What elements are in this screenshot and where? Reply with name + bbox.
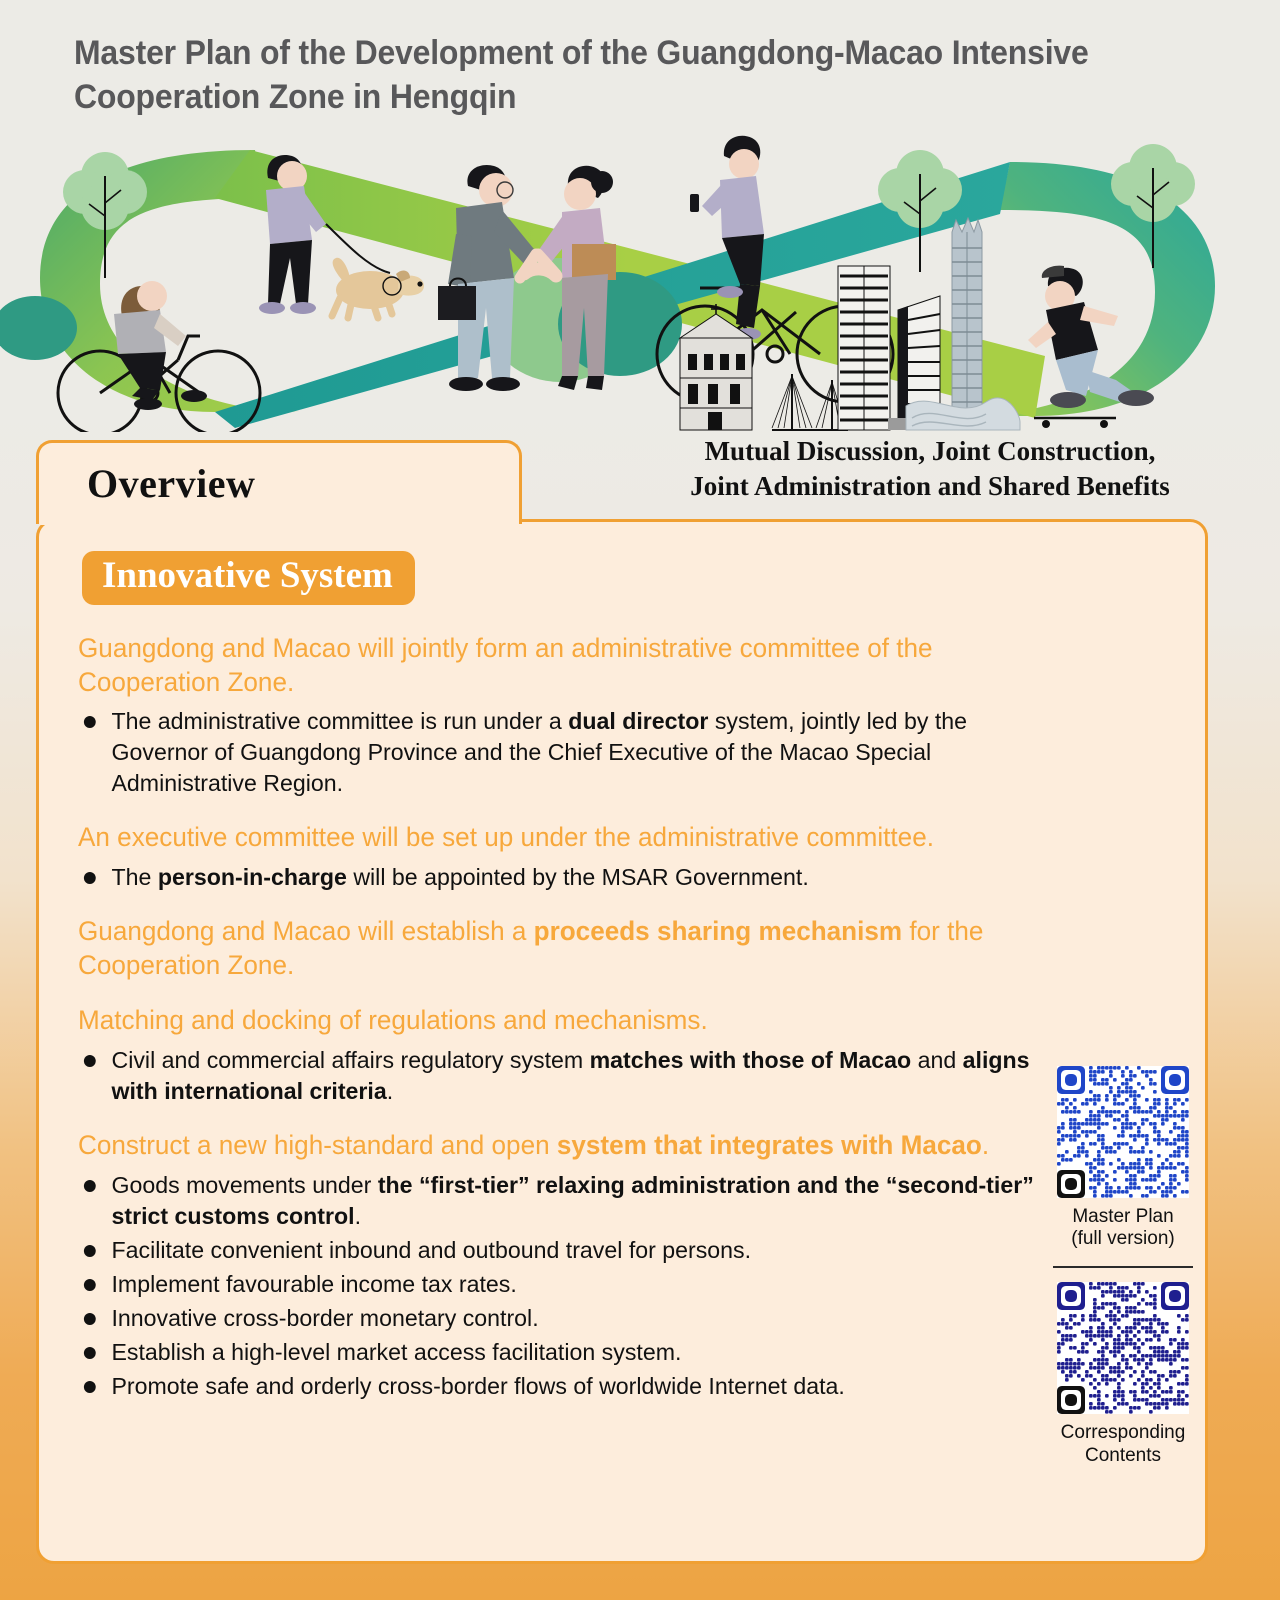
section-heading: Matching and docking of regulations and …: [78, 1004, 1043, 1038]
master-plan-qr-caption-line2: (full version): [1048, 1228, 1198, 1250]
qr-item-corresponding-contents[interactable]: Corresponding Contents: [1048, 1282, 1198, 1466]
bullet-item: The person-in-charge will be appointed b…: [78, 862, 1043, 893]
bullet-dot-icon: [84, 1055, 96, 1067]
bullet-item: Promote safe and orderly cross-border fl…: [78, 1371, 1043, 1402]
bullet-item: Civil and commercial affairs regulatory …: [78, 1045, 1043, 1107]
bullet-dot-icon: [84, 872, 96, 884]
bullet-dot-icon: [84, 1347, 96, 1359]
section-bullet-list: The person-in-charge will be appointed b…: [78, 862, 1058, 893]
bullet-item: Implement favourable income tax rates.: [78, 1269, 1043, 1300]
landmark-highrise-striped: [838, 266, 890, 430]
corresponding-contents-qr-caption: Corresponding Contents: [1048, 1422, 1198, 1466]
section-bullet-list: The administrative committee is run unde…: [78, 706, 1058, 799]
bullet-item: Innovative cross-border monetary control…: [78, 1303, 1043, 1334]
bullet-dot-icon: [84, 1313, 96, 1325]
dog: [332, 258, 424, 318]
bullet-item: Establish a high-level market access fac…: [78, 1337, 1043, 1368]
bullet-item: The administrative committee is run unde…: [78, 706, 1043, 799]
master-plan-qr-caption: Master Plan (full version): [1048, 1206, 1198, 1250]
bullet-dot-icon: [84, 1279, 96, 1291]
section-bullet-list: Civil and commercial affairs regulatory …: [78, 1045, 1058, 1107]
hengqin-cooperation-zone-illustration: [0, 128, 1280, 432]
bullet-dot-icon: [84, 716, 96, 728]
master-plan-qr-modules: [1057, 1066, 1189, 1198]
bullet-item: Goods movements under the “first-tier” r…: [78, 1170, 1043, 1232]
bullet-dot-icon: [84, 1381, 96, 1393]
section-heading: An executive committee will be set up un…: [78, 821, 1043, 855]
innovative-system-badge-label: Innovative System: [102, 556, 393, 596]
slogan-line-2: Joint Administration and Shared Benefits: [620, 469, 1240, 504]
bullet-item: Facilitate convenient inbound and outbou…: [78, 1235, 1043, 1266]
qr-separator: [1053, 1266, 1193, 1268]
panel-content: Guangdong and Macao will jointly form an…: [78, 632, 1058, 1405]
qr-sidebar: Master Plan (full version) Corresponding…: [1048, 1066, 1198, 1467]
section-bullet-list: Goods movements under the “first-tier” r…: [78, 1170, 1058, 1402]
qr-item-master-plan[interactable]: Master Plan (full version): [1048, 1066, 1198, 1250]
corresponding-contents-qr-caption-line1: Corresponding: [1048, 1422, 1198, 1444]
tab-seam: [39, 517, 519, 525]
handshake: [524, 269, 556, 276]
tab-overview[interactable]: Overview: [36, 440, 522, 524]
header-banner: Master Plan of the Development of the Gu…: [0, 0, 1280, 432]
tab-overview-label: Overview: [87, 460, 255, 507]
slogan-line-1: Mutual Discussion, Joint Construction,: [620, 434, 1240, 469]
bullet-dot-icon: [84, 1245, 96, 1257]
section-heading: Guangdong and Macao will establish a pro…: [78, 915, 1043, 982]
bullet-dot-icon: [84, 1180, 96, 1192]
corresponding-contents-qr[interactable]: [1057, 1282, 1189, 1414]
corresponding-contents-qr-modules: [1057, 1282, 1189, 1414]
section-heading: Construct a new high-standard and open s…: [78, 1129, 1043, 1163]
innovative-system-badge: Innovative System: [82, 551, 415, 605]
corresponding-contents-qr-caption-line2: Contents: [1048, 1445, 1198, 1467]
landmark-macau-tower: [952, 218, 982, 414]
master-plan-qr[interactable]: [1057, 1066, 1189, 1198]
master-plan-qr-caption-line1: Master Plan: [1048, 1206, 1198, 1228]
section-heading: Guangdong and Macao will jointly form an…: [78, 632, 1043, 699]
page-title: Master Plan of the Development of the Gu…: [74, 32, 1146, 119]
slogan: Mutual Discussion, Joint Construction, J…: [620, 434, 1240, 503]
